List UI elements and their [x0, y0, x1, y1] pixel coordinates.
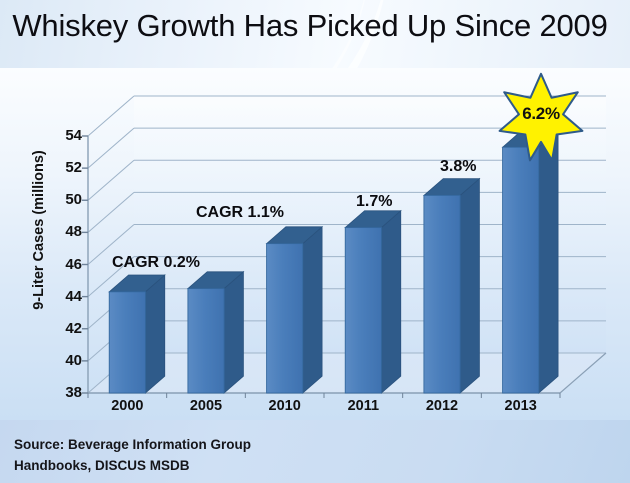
- x-tick-label: 2011: [326, 398, 400, 414]
- chart-panel: 9-Liter Cases (millions) 384042444648505…: [0, 68, 630, 420]
- x-tick-label: 2012: [405, 398, 479, 414]
- source-line-1: Source: Beverage Information Group: [14, 437, 251, 452]
- source-line-2: Handbooks, DISCUS MSDB: [14, 458, 190, 473]
- y-axis-tick-labels: 384042444648505254: [48, 68, 82, 420]
- slide: Whiskey Growth Has Picked Up Since 2009: [0, 0, 630, 483]
- y-tick-label: 44: [48, 289, 82, 304]
- starburst-value-label: 6.2%: [495, 104, 587, 124]
- y-tick-label: 48: [48, 224, 82, 239]
- chart-annotation: CAGR 1.1%: [196, 204, 284, 222]
- x-tick-label: 2010: [248, 398, 322, 414]
- y-tick-label: 54: [48, 128, 82, 143]
- source-band: Source: Beverage Information Group Handb…: [0, 420, 630, 483]
- y-tick-label: 52: [48, 160, 82, 175]
- y-axis-title: 9-Liter Cases (millions): [31, 125, 47, 335]
- chart-annotation: CAGR 0.2%: [112, 254, 200, 272]
- y-tick-label: 46: [48, 257, 82, 272]
- chart-annotation: 1.7%: [356, 193, 392, 211]
- x-tick-label: 2005: [169, 398, 243, 414]
- y-tick-label: 50: [48, 192, 82, 207]
- y-tick-label: 42: [48, 321, 82, 336]
- chart-annotation: 3.8%: [440, 158, 476, 176]
- x-tick-label: 2013: [484, 398, 558, 414]
- x-tick-label: 2000: [90, 398, 164, 414]
- page-title: Whiskey Growth Has Picked Up Since 2009: [0, 8, 620, 44]
- y-tick-label: 40: [48, 353, 82, 368]
- y-tick-label: 38: [48, 385, 82, 400]
